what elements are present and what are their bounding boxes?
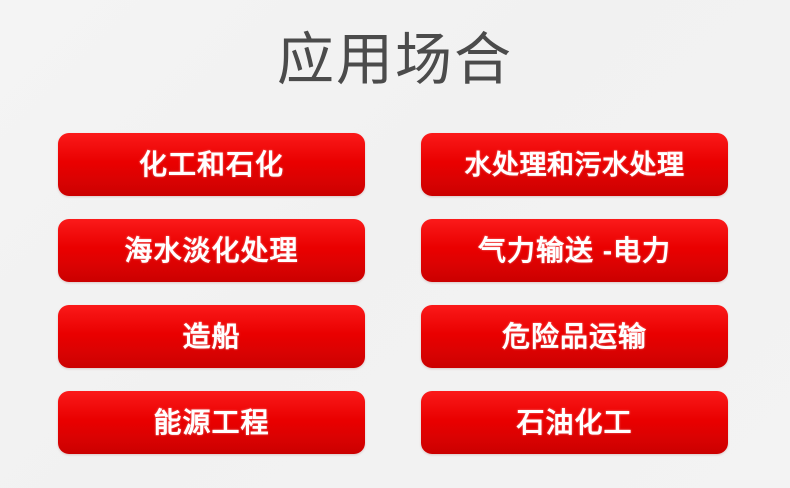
page-title: 应用场合 [0, 26, 790, 94]
application-item-label: 石油化工 [516, 408, 632, 438]
application-item-shipbuilding[interactable]: 造船 [58, 305, 365, 368]
application-item-energy-engineering[interactable]: 能源工程 [58, 391, 365, 454]
application-item-pneumatic-conveying-power[interactable]: 气力输送 -电力 [421, 219, 728, 282]
application-item-seawater-desalination[interactable]: 海水淡化处理 [58, 219, 365, 282]
application-item-label: 气力输送 -电力 [478, 236, 671, 266]
application-item-water-wastewater-treatment[interactable]: 水处理和污水处理 [421, 133, 728, 196]
application-item-chemical-petrochemical[interactable]: 化工和石化 [58, 133, 365, 196]
application-item-petrochemical[interactable]: 石油化工 [421, 391, 728, 454]
application-item-label: 化工和石化 [139, 150, 284, 180]
application-item-label: 能源工程 [153, 408, 269, 438]
application-item-hazardous-goods-transport[interactable]: 危险品运输 [421, 305, 728, 368]
application-scenarios-page: 应用场合 化工和石化 水处理和污水处理 海水淡化处理 气力输送 -电力 造船 危… [0, 0, 790, 488]
application-item-label: 造船 [182, 322, 240, 352]
application-item-label: 水处理和污水处理 [465, 150, 685, 180]
application-item-label: 海水淡化处理 [124, 236, 298, 266]
application-grid: 化工和石化 水处理和污水处理 海水淡化处理 气力输送 -电力 造船 危险品运输 … [58, 133, 728, 454]
application-item-label: 危险品运输 [502, 322, 647, 352]
